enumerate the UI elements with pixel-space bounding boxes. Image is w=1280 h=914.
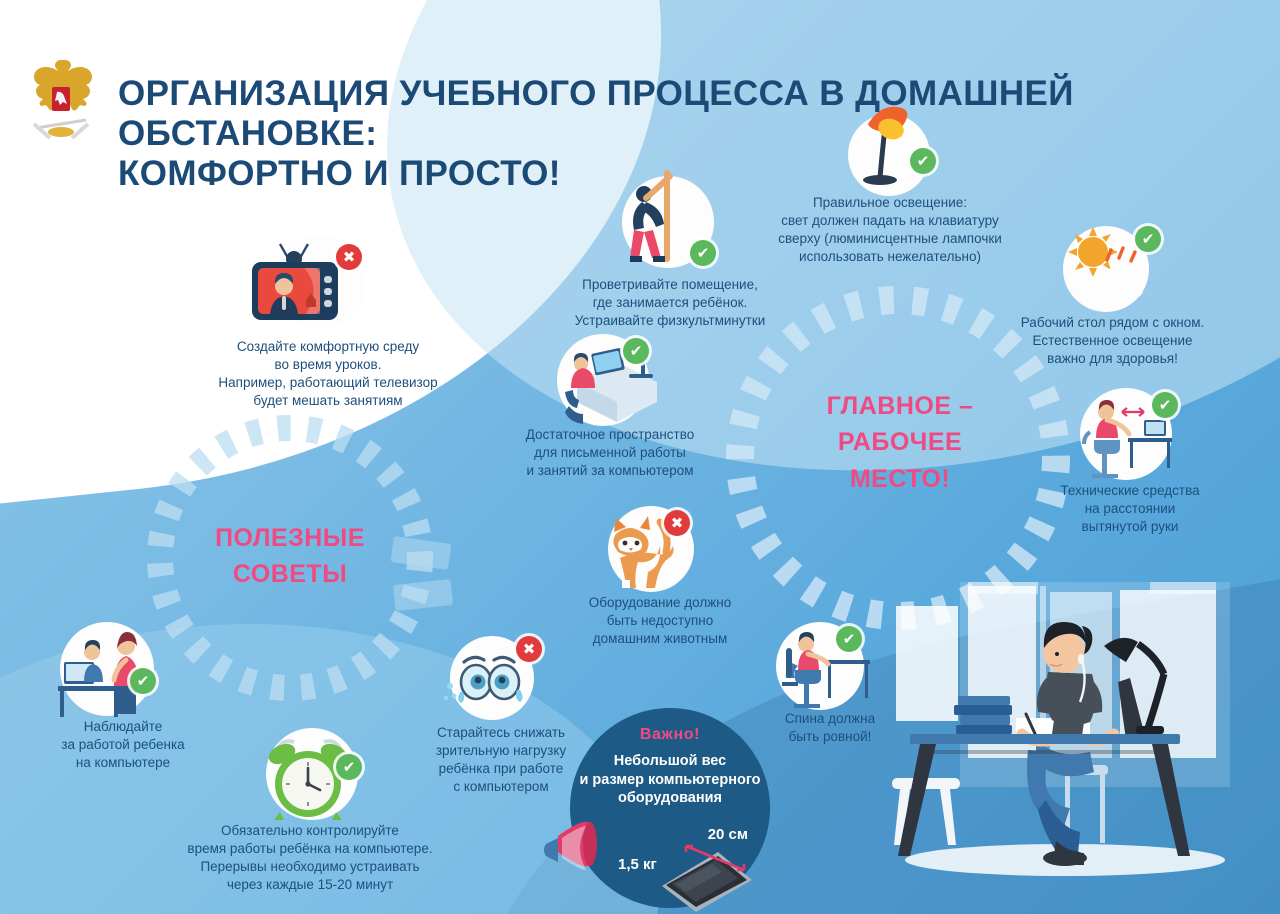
badge-allowed: ✔	[130, 668, 156, 694]
section-label-main-workplace: Главное – рабочее место!	[790, 388, 1010, 497]
tip-text: Спина должна быть ровной!	[740, 710, 920, 746]
badge-allowed: ✔	[336, 754, 362, 780]
badge-allowed: ✔	[690, 240, 716, 266]
important-kicker: Важно!	[640, 726, 700, 744]
tip-text: Достаточное пространство для письменной …	[495, 426, 725, 480]
tip-enough-space: ✔ Достаточное пространство для письменно…	[495, 330, 725, 480]
badge-not-allowed: ✖	[664, 510, 690, 536]
tip-reduce-eye-strain: ✖ Старайтесь снижать зрительную нагрузку…	[398, 630, 604, 796]
badge-allowed: ✔	[623, 338, 649, 364]
badge-not-allowed: ✖	[516, 636, 542, 662]
badge-allowed: ✔	[1135, 226, 1161, 252]
section-label-helpful-advice: Полезные советы	[185, 520, 395, 593]
title-line-1: Организация учебного процесса в домашней…	[118, 74, 1074, 153]
tip-pets-away: ✖ Оборудование должно быть недоступно до…	[560, 502, 760, 648]
tip-text: Обязательно контролируйте время работы р…	[140, 822, 480, 894]
megaphone-icon	[540, 818, 610, 876]
tip-text: Создайте комфортную среду во время уроко…	[178, 338, 478, 410]
badge-not-allowed: ✖	[336, 244, 362, 270]
decorative-stripe	[393, 579, 453, 611]
badge-allowed: ✔	[1152, 392, 1178, 418]
tablet-weight-label: 1,5 кг	[618, 856, 657, 873]
tip-straight-back: ✔ Спина должна быть ровной!	[740, 618, 920, 746]
tip-text: Технические средства на расстоянии вытян…	[1020, 482, 1240, 536]
workspace-desk-icon	[545, 336, 669, 428]
tip-text: Проветривайте помещение, где занимается …	[530, 276, 810, 330]
tablet-icon	[652, 832, 762, 914]
tip-tv-distraction: ✖ Создайте комфортную среду во время уро…	[178, 230, 478, 410]
infographic-poster: Организация учебного процесса в домашней…	[0, 0, 1280, 914]
title-line-2: Комфортно и просто!	[118, 154, 1178, 194]
tip-text: Рабочий стол рядом с окном. Естественное…	[985, 314, 1240, 368]
tip-desk-near-window: ✔ Рабочий стол рядом с окном. Естественн…	[985, 222, 1240, 368]
tip-arm-length-distance: ✔ Технические средства на расстоянии выт…	[1020, 386, 1240, 536]
russian-coat-of-arms	[24, 54, 98, 140]
page-title: Организация учебного процесса в домашней…	[118, 74, 1178, 194]
badge-allowed: ✔	[836, 626, 862, 652]
important-body: Небольшой вес и размер компьютерного обо…	[577, 752, 763, 808]
